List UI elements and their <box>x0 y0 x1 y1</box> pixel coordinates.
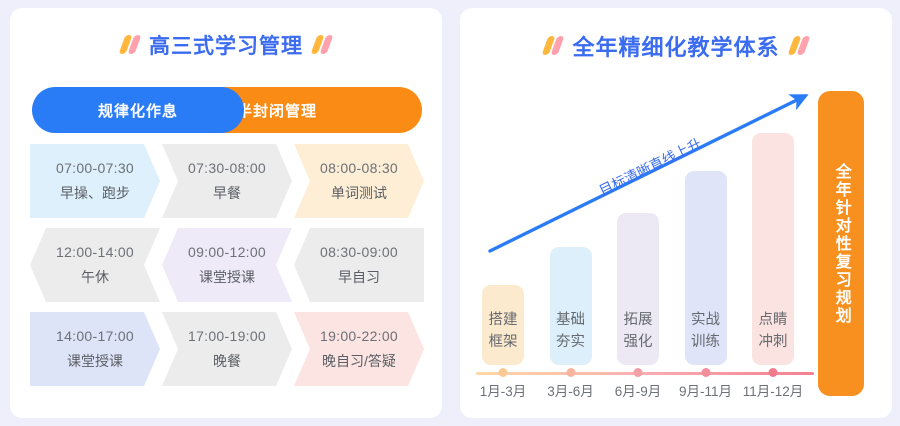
yearly-review-plan-label: 全年针对性复习规划 <box>832 163 850 325</box>
axis-dot <box>566 368 575 377</box>
chart-bar-label: 训练 <box>691 333 720 351</box>
schedule-item-time: 09:00-12:00 <box>188 244 266 260</box>
schedule-item-label: 晚餐 <box>213 351 241 371</box>
schedule-item-time: 07:30-08:00 <box>188 160 266 176</box>
schedule-item-label: 早餐 <box>213 183 241 203</box>
page-root: 高三式学习管理 半封闭管理 规律化作息 07:00-07:30早操、跑步07:3… <box>0 0 900 426</box>
chart-bar-label: 拓展 <box>624 311 653 329</box>
schedule-item-time: 08:00-08:30 <box>320 160 398 176</box>
schedule-item-label: 午休 <box>81 267 109 287</box>
axis-dot <box>634 368 643 377</box>
schedule-item-label: 课堂授课 <box>67 351 123 371</box>
chart-bar[interactable]: 实战训练 <box>685 171 727 365</box>
chart-bar-label: 冲刺 <box>759 333 788 351</box>
chart-bar-label: 框架 <box>489 333 518 351</box>
schedule-item[interactable]: 19:00-22:00晚自习/答疑 <box>294 312 424 386</box>
schedule-item-time: 07:00-07:30 <box>56 160 134 176</box>
tab-label: 规律化作息 <box>98 100 178 121</box>
schedule-item-time: 12:00-14:00 <box>56 244 134 260</box>
axis-tick-label: 11月-12月 <box>743 380 804 400</box>
schedule-item[interactable]: 07:00-07:30早操、跑步 <box>30 144 160 218</box>
axis-tick-labels: 1月-3月3月-6月6月-9月9月-11月11月-12月 <box>476 380 814 402</box>
schedule-item[interactable]: 07:30-08:00早餐 <box>162 144 292 218</box>
schedule-item[interactable]: 12:00-14:00午休 <box>30 228 160 302</box>
schedule-item-time: 19:00-22:00 <box>320 328 398 344</box>
chart-bar-label: 强化 <box>624 333 653 351</box>
slash-decoration-right-icon <box>314 35 330 55</box>
chart-bar-label: 搭建 <box>489 311 518 329</box>
right-panel-card: 全年精细化教学体系 目标清晰直线上升 搭建框架基础夯实拓展强化实战训练点睛冲刺 <box>460 8 892 418</box>
timeline-axis <box>476 368 814 378</box>
schedule-row: 12:00-14:00午休09:00-12:00课堂授课08:30-09:00早… <box>30 228 426 302</box>
schedule-list: 07:00-07:30早操、跑步07:30-08:00早餐08:00-08:30… <box>30 144 426 396</box>
left-panel-title: 高三式学习管理 <box>10 30 442 60</box>
growth-bar-chart: 目标清晰直线上升 搭建框架基础夯实拓展强化实战训练点睛冲刺 1月-3月3月-6月… <box>460 8 892 418</box>
chart-bar[interactable]: 点睛冲刺 <box>752 133 794 365</box>
tab-group: 半封闭管理 规律化作息 <box>32 87 422 133</box>
axis-tick-label: 6月-9月 <box>615 380 662 400</box>
axis-line <box>476 372 814 375</box>
yearly-review-plan-panel[interactable]: 全年针对性复习规划 <box>818 91 864 396</box>
tab-label: 半封闭管理 <box>237 100 317 121</box>
axis-tick-label: 1月-3月 <box>480 380 527 400</box>
schedule-item[interactable]: 08:30-09:00早自习 <box>294 228 424 302</box>
schedule-item[interactable]: 14:00-17:00课堂授课 <box>30 312 160 386</box>
schedule-item-label: 早自习 <box>338 267 380 287</box>
schedule-row: 14:00-17:00课堂授课17:00-19:00晚餐19:00-22:00晚… <box>30 312 426 386</box>
page-title: 高三式学习管理 <box>149 30 303 60</box>
left-panel-card: 高三式学习管理 半封闭管理 规律化作息 07:00-07:30早操、跑步07:3… <box>10 8 442 418</box>
schedule-item-label: 早操、跑步 <box>60 183 130 203</box>
axis-tick-label: 9月-11月 <box>679 380 732 400</box>
axis-dot <box>499 368 508 377</box>
slash-decoration-left-icon <box>122 35 138 55</box>
chart-bar[interactable]: 基础夯实 <box>550 247 592 365</box>
schedule-item-time: 17:00-19:00 <box>188 328 266 344</box>
chart-bar-label: 夯实 <box>556 333 585 351</box>
schedule-item[interactable]: 08:00-08:30单词测试 <box>294 144 424 218</box>
chart-bar[interactable]: 拓展强化 <box>617 213 659 365</box>
axis-dot <box>701 368 710 377</box>
axis-tick-label: 3月-6月 <box>547 380 594 400</box>
chart-bar-label: 实战 <box>691 311 720 329</box>
schedule-item[interactable]: 17:00-19:00晚餐 <box>162 312 292 386</box>
schedule-item-label: 课堂授课 <box>199 267 255 287</box>
chart-bar[interactable]: 搭建框架 <box>482 285 524 365</box>
schedule-item-time: 14:00-17:00 <box>56 328 134 344</box>
chart-bar-label: 基础 <box>556 311 585 329</box>
schedule-item[interactable]: 09:00-12:00课堂授课 <box>162 228 292 302</box>
schedule-item-label: 单词测试 <box>331 183 387 203</box>
schedule-item-time: 08:30-09:00 <box>320 244 398 260</box>
tab-regular-schedule[interactable]: 规律化作息 <box>32 87 244 133</box>
axis-dot <box>769 368 778 377</box>
chart-bar-label: 点睛 <box>759 311 788 329</box>
schedule-item-label: 晚自习/答疑 <box>322 351 396 371</box>
schedule-row: 07:00-07:30早操、跑步07:30-08:00早餐08:00-08:30… <box>30 144 426 218</box>
